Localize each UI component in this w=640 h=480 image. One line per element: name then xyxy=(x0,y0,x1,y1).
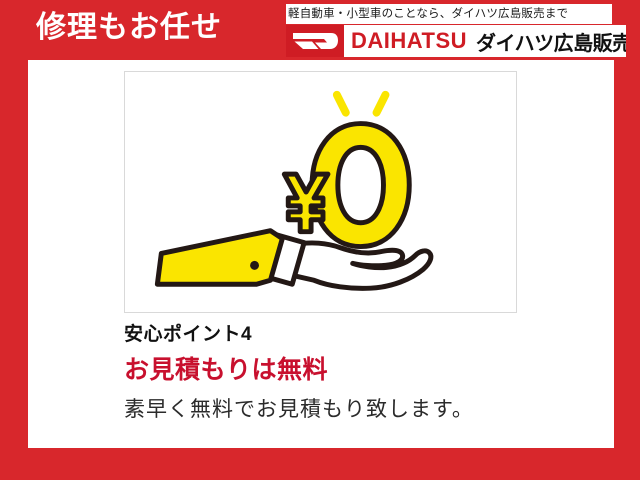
open-hand-icon xyxy=(292,243,431,288)
content-area: 安心ポイント4 お見積もりは無料 素早く無料でお見積もり致します。 xyxy=(28,60,614,448)
brand-lockup: 軽自動車・小型車のことなら、ダイハツ広島販売まで DAIHATSU ダイハツ広島… xyxy=(286,4,626,58)
brand-dealer-name: ダイハツ広島販売 xyxy=(476,27,626,56)
frame-border-bottom xyxy=(0,448,640,480)
frame-border-left xyxy=(0,0,28,480)
brand-logo-row: DAIHATSU ダイハツ広島販売 xyxy=(286,25,626,57)
daihatsu-d-emblem-icon xyxy=(286,25,344,57)
brand-wordmark: DAIHATSU xyxy=(351,28,467,54)
illustration-frame xyxy=(124,71,517,313)
brand-tagline: 軽自動車・小型車のことなら、ダイハツ広島販売まで xyxy=(286,4,612,24)
frame-border-right xyxy=(614,0,640,480)
yellow-sleeve-icon xyxy=(157,231,282,285)
zero-glyph xyxy=(312,124,409,247)
headline: お見積もりは無料 xyxy=(124,352,594,388)
point-label: 安心ポイント4 xyxy=(124,322,594,348)
brand-wordmark-wrap: DAIHATSU ダイハツ広島販売 xyxy=(344,25,626,57)
slide-root: 修理もお任せ 軽自動車・小型車のことなら、ダイハツ広島販売まで DAIHATSU… xyxy=(0,0,640,480)
description: 素早く無料でお見積もり致します。 xyxy=(124,394,594,426)
hand-holding-zero-yen-illustration xyxy=(125,72,516,312)
sparkle-lines-icon xyxy=(337,95,386,113)
text-block: 安心ポイント4 お見積もりは無料 素早く無料でお見積もり致します。 xyxy=(124,322,594,426)
header-title: 修理もお任せ xyxy=(36,9,222,47)
header-bar: 修理もお任せ 軽自動車・小型車のことなら、ダイハツ広島販売まで DAIHATSU… xyxy=(0,0,640,60)
